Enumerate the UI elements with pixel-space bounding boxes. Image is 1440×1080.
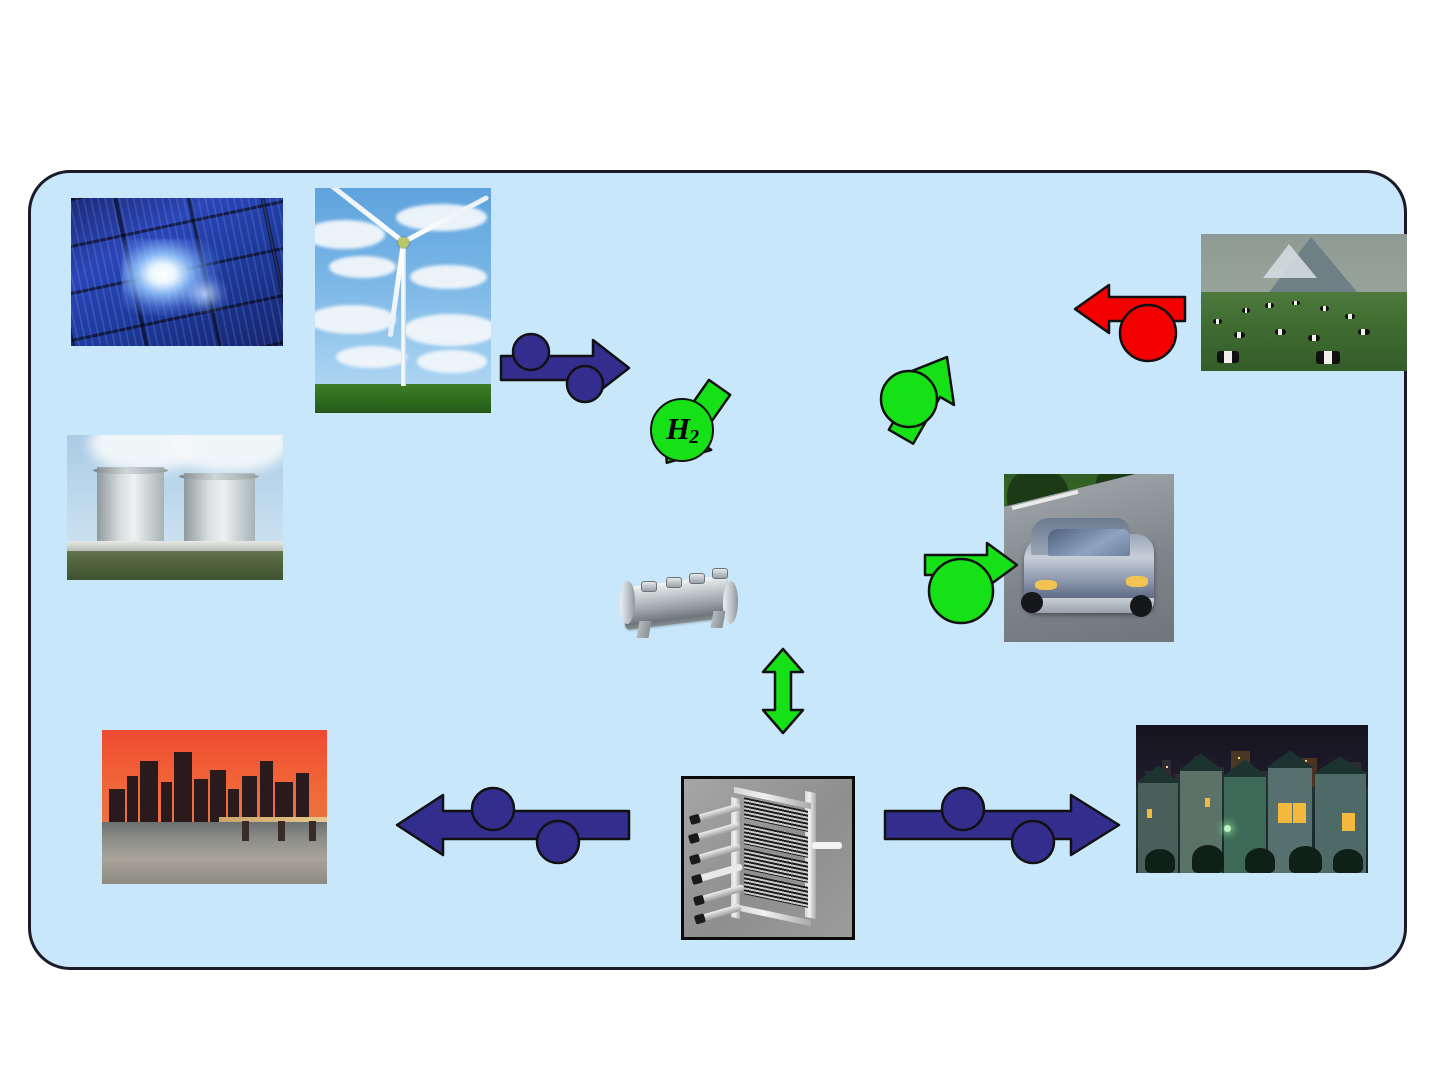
nuclear-cooling-towers-photo: [67, 435, 283, 580]
hydrogen-arrow-down-left: [851, 373, 971, 493]
diagram-panel: H2: [28, 170, 1407, 970]
pasture-cows-photo: [1201, 234, 1407, 371]
electron-arrow-left-bottom: [383, 785, 633, 865]
heat-arrow-left: [1071, 283, 1191, 373]
hydrogen-label-text: H2: [666, 413, 698, 447]
fuel-cell-car-photo: [1004, 474, 1174, 642]
wind-turbine-photo: [315, 188, 491, 413]
hydrogen-storage-tank: [615, 559, 743, 645]
city-skyline-sunset-photo: [102, 730, 327, 884]
hydrogen-label: H2: [650, 398, 714, 462]
residential-houses-night-photo: [1136, 725, 1368, 873]
solar-panels-photo: [71, 198, 283, 346]
fuel-cell-stack-photo: [681, 776, 855, 940]
electron-arrow-right-top: [497, 328, 637, 408]
hydrogen-double-arrow-vertical: [753, 646, 813, 736]
hydrogen-arrow-right-to-car: [891, 543, 1021, 643]
electron-arrow-right-bottom: [881, 785, 1131, 865]
